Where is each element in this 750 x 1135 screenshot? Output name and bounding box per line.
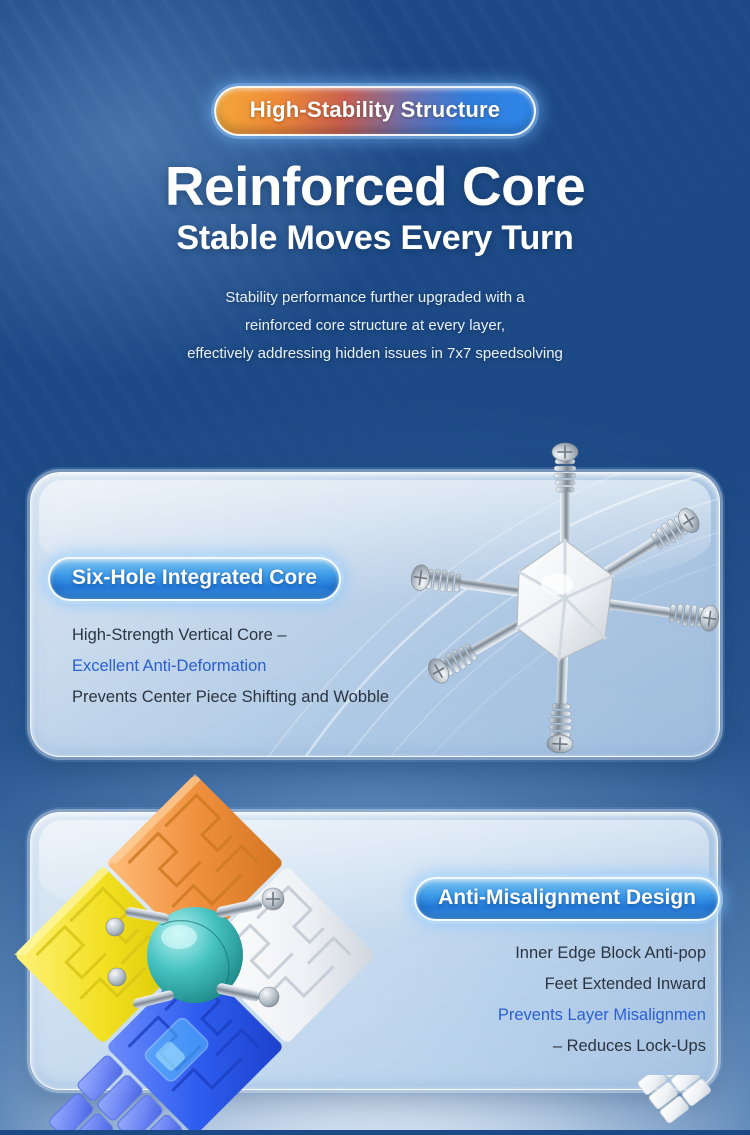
feature-line: – Reduces Lock-Ups (498, 1031, 706, 1062)
page-subtitle: Stable Moves Every Turn (0, 219, 750, 258)
hero-section: High-Stability Structure Reinforced Core… (0, 0, 750, 368)
card-badge-six-hole-core: Six-Hole Integrated Core (48, 557, 341, 601)
hero-description-line: reinforced core structure at every layer… (0, 312, 750, 340)
hero-badge: High-Stability Structure (214, 86, 537, 136)
feature-line-accent: Prevents Layer Misalignmen (498, 1000, 706, 1031)
card-badge-anti-misalignment: Anti-Misalignment Design (414, 877, 720, 921)
feature-line: Prevents Center Piece Shifting and Wobbl… (72, 682, 389, 713)
feature-line: Inner Edge Block Anti-pop (498, 938, 706, 969)
hero-description-line: effectively addressing hidden issues in … (0, 340, 750, 368)
feature-line: High-Strength Vertical Core – (72, 620, 389, 651)
page-title: Reinforced Core (0, 158, 750, 214)
card-text-anti-misalignment: Inner Edge Block Anti-pop Feet Extended … (498, 938, 706, 1062)
feature-card-six-hole-core (30, 472, 720, 757)
hero-description-line: Stability performance further upgraded w… (0, 284, 750, 312)
feature-line: Feet Extended Inward (498, 969, 706, 1000)
card-text-six-hole-core: High-Strength Vertical Core – Excellent … (72, 620, 389, 713)
hero-description: Stability performance further upgraded w… (0, 284, 750, 368)
feature-line-accent: Excellent Anti-Deformation (72, 651, 389, 682)
swoosh-decoration (239, 472, 720, 757)
